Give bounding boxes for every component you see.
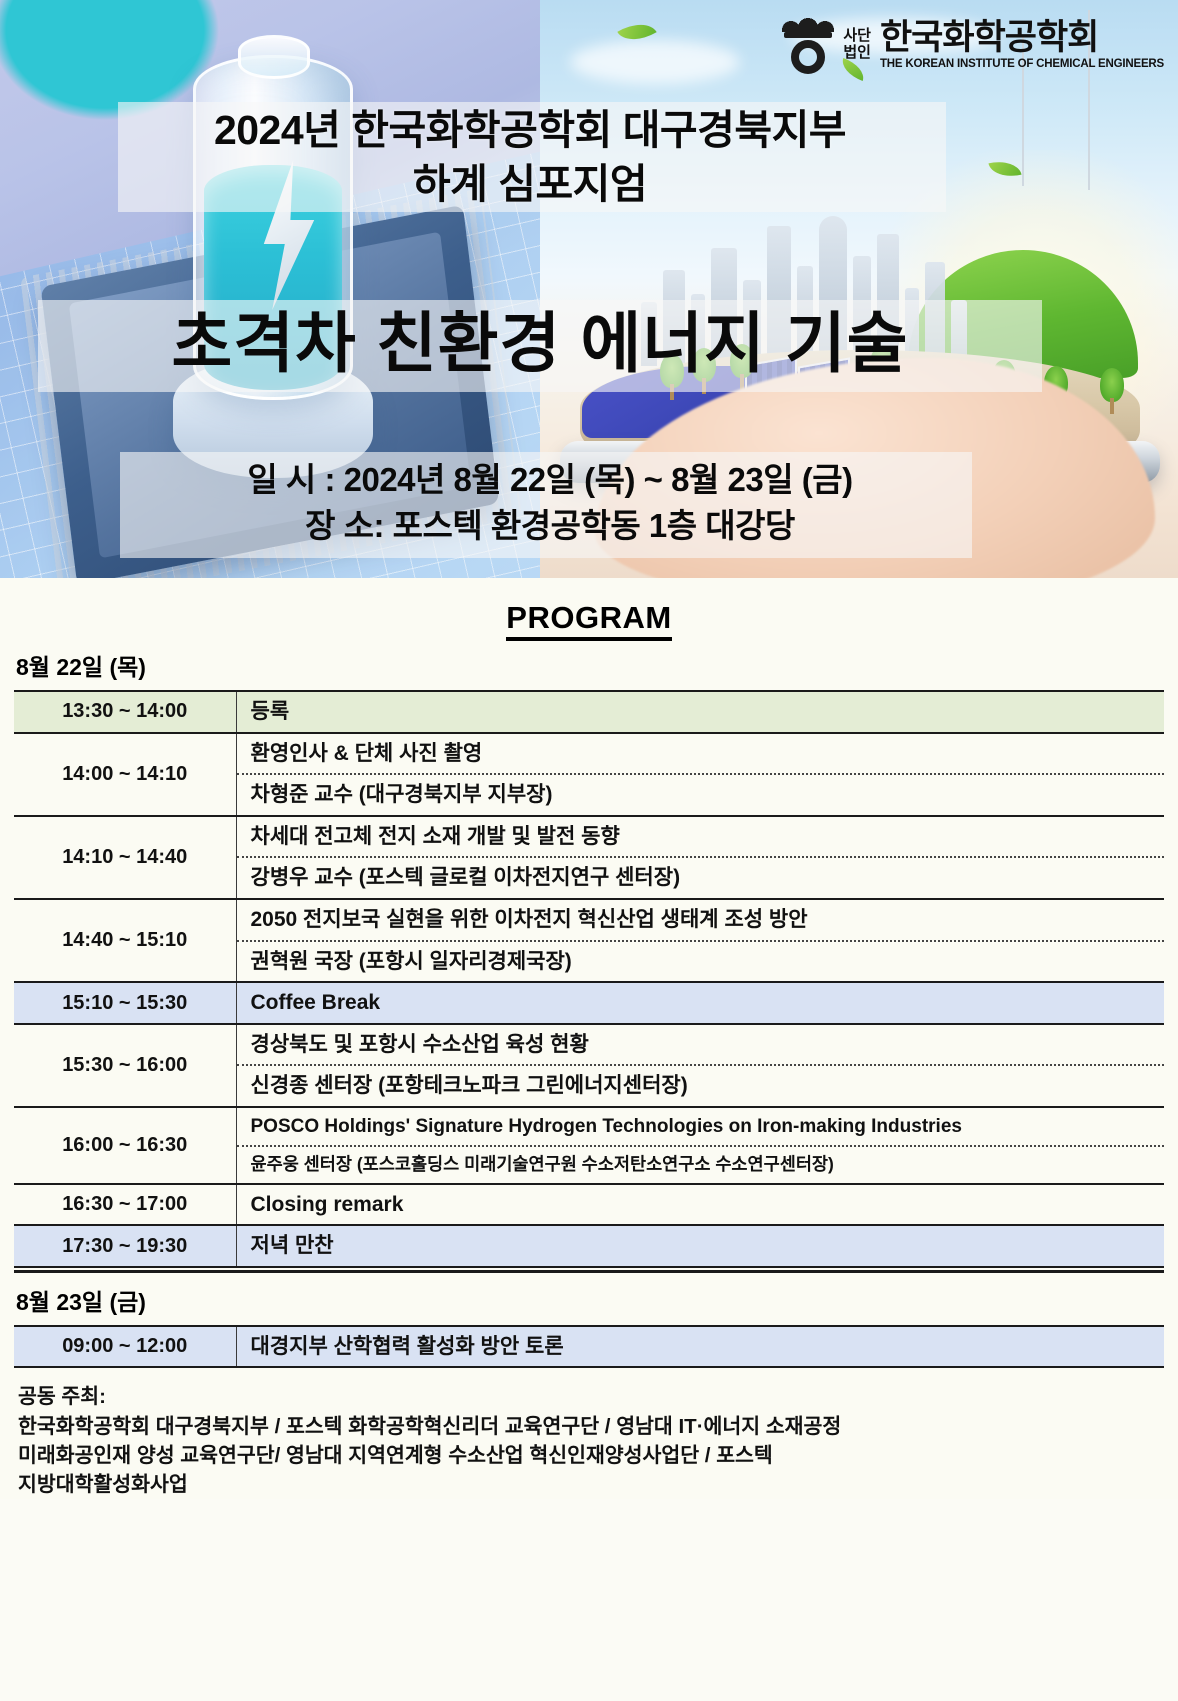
session-time: 16:00 ~ 16:30 (14, 1107, 236, 1184)
logo-prefix-line1: 사단 (843, 28, 871, 45)
session-time: 15:10 ~ 15:30 (14, 982, 236, 1024)
table-row: 09:00 ~ 12:00대경지부 산학협력 활성화 방안 토론 (14, 1326, 1164, 1368)
logo-english-name: THE KOREAN INSTITUTE OF CHEMICAL ENGINEE… (880, 58, 1164, 70)
session-body: 경상북도 및 포항시 수소산업 육성 현황신경종 센터장 (포항테크노파크 그린… (236, 1024, 1164, 1107)
co-hosts: 공동 주최: 한국화학공학회 대구경북지부 / 포스텍 화학공학혁신리더 교육연… (18, 1382, 1164, 1498)
table-row: 14:10 ~ 14:40차세대 전고체 전지 소재 개발 및 발전 동향강병우… (14, 816, 1164, 899)
table-row: 16:00 ~ 16:30POSCO Holdings' Signature H… (14, 1107, 1164, 1184)
session-title: 대경지부 산학협력 활성화 방안 토론 (237, 1327, 1165, 1367)
logo-prefix-line2: 법인 (843, 45, 871, 62)
table-row: 15:30 ~ 16:00경상북도 및 포항시 수소산업 육성 현황신경종 센터… (14, 1024, 1164, 1107)
session-body: POSCO Holdings' Signature Hydrogen Techn… (236, 1107, 1164, 1184)
session-time: 17:30 ~ 19:30 (14, 1225, 236, 1267)
table-row: 14:00 ~ 14:10환영인사 & 단체 사진 촬영차형준 교수 (대구경북… (14, 733, 1164, 816)
cloud (570, 40, 740, 84)
session-body: 대경지부 산학협력 활성화 방안 토론 (236, 1326, 1164, 1368)
session-time: 16:30 ~ 17:00 (14, 1184, 236, 1226)
session-title: 등록 (237, 692, 1165, 732)
session-speaker: 차형준 교수 (대구경북지부 지부장) (237, 773, 1165, 815)
co-hosts-body: 한국화학공학회 대구경북지부 / 포스텍 화학공학혁신리더 교육연구단 / 영남… (18, 1412, 1164, 1499)
table-row: 14:40 ~ 15:102050 전지보국 실현을 위한 이차전지 혁신산업 … (14, 899, 1164, 982)
session-title: 환영인사 & 단체 사진 촬영 (237, 734, 1165, 774)
session-title: Coffee Break (237, 983, 1165, 1023)
session-speaker: 권혁원 국장 (포항시 일자리경제국장) (237, 940, 1165, 982)
session-speaker: 윤주웅 센터장 (포스코홀딩스 미래기술연구원 수소저탄소연구소 수소연구센터장… (237, 1145, 1165, 1182)
session-time: 14:00 ~ 14:10 (14, 733, 236, 816)
table-row: 16:30 ~ 17:00Closing remark (14, 1184, 1164, 1226)
session-title: POSCO Holdings' Signature Hydrogen Techn… (237, 1108, 1165, 1145)
session-speaker: 신경종 센터장 (포항테크노파크 그린에너지센터장) (237, 1064, 1165, 1106)
session-time: 09:00 ~ 12:00 (14, 1326, 236, 1368)
symposium-title: 2024년 한국화학공학회 대구경북지부 하계 심포지엄 (110, 103, 950, 211)
hero-banner: 사단 법인 한국화학공학회 THE KOREAN INSTITUTE OF CH… (0, 0, 1178, 578)
day-heading: 8월 22일 (목) (16, 648, 1164, 682)
tree (1100, 368, 1124, 402)
kiche-logo: 사단 법인 한국화학공학회 THE KOREAN INSTITUTE OF CH… (782, 14, 1164, 76)
session-body: 환영인사 & 단체 사진 촬영차형준 교수 (대구경북지부 지부장) (236, 733, 1164, 816)
session-title: 저녁 만찬 (237, 1226, 1165, 1266)
session-time: 13:30 ~ 14:00 (14, 691, 236, 733)
table-row: 17:30 ~ 19:30저녁 만찬 (14, 1225, 1164, 1267)
schedule-days: 8월 22일 (목)13:30 ~ 14:00등록14:00 ~ 14:10환영… (14, 648, 1164, 1368)
battery-cap (238, 35, 310, 79)
program-heading: PROGRAM (14, 600, 1164, 636)
kiche-emblem-icon (782, 14, 834, 76)
schedule-table: 09:00 ~ 12:00대경지부 산학협력 활성화 방안 토론 (14, 1325, 1164, 1369)
session-time: 14:10 ~ 14:40 (14, 816, 236, 899)
session-body: 저녁 만찬 (236, 1225, 1164, 1267)
session-speaker: 강병우 교수 (포스텍 글로컬 이차전지연구 센터장) (237, 856, 1165, 898)
session-body: 차세대 전고체 전지 소재 개발 및 발전 동향강병우 교수 (포스텍 글로컬 … (236, 816, 1164, 899)
day-separator (14, 1270, 1164, 1273)
session-time: 15:30 ~ 16:00 (14, 1024, 236, 1107)
symposium-theme: 초격차 친환경 에너지 기술 (40, 302, 1040, 385)
session-title: 2050 전지보국 실현을 위한 이차전지 혁신산업 생태계 조성 방안 (237, 900, 1165, 940)
table-row: 15:10 ~ 15:30Coffee Break (14, 982, 1164, 1024)
session-body: Closing remark (236, 1184, 1164, 1226)
table-row: 13:30 ~ 14:00등록 (14, 691, 1164, 733)
day-heading: 8월 23일 (금) (16, 1283, 1164, 1317)
logo-korean-name: 한국화학공학회 (880, 20, 1164, 55)
program-section: PROGRAM 8월 22일 (목)13:30 ~ 14:00등록14:00 ~… (0, 578, 1178, 1499)
session-title: 경상북도 및 포항시 수소산업 육성 현황 (237, 1025, 1165, 1065)
session-body: 2050 전지보국 실현을 위한 이차전지 혁신산업 생태계 조성 방안권혁원 … (236, 899, 1164, 982)
schedule-table: 13:30 ~ 14:00등록14:00 ~ 14:10환영인사 & 단체 사진… (14, 690, 1164, 1268)
logo-corporate-prefix: 사단 법인 (843, 28, 871, 62)
session-body: Coffee Break (236, 982, 1164, 1024)
date-venue-info: 일 시 : 2024년 8월 22일 (목) ~ 8월 23일 (금) 장 소:… (110, 457, 990, 548)
co-hosts-label: 공동 주최: (18, 1382, 1164, 1411)
session-body: 등록 (236, 691, 1164, 733)
program-heading-text: PROGRAM (506, 600, 671, 641)
session-title: 차세대 전고체 전지 소재 개발 및 발전 동향 (237, 817, 1165, 857)
session-title: Closing remark (237, 1185, 1165, 1225)
session-time: 14:40 ~ 15:10 (14, 899, 236, 982)
